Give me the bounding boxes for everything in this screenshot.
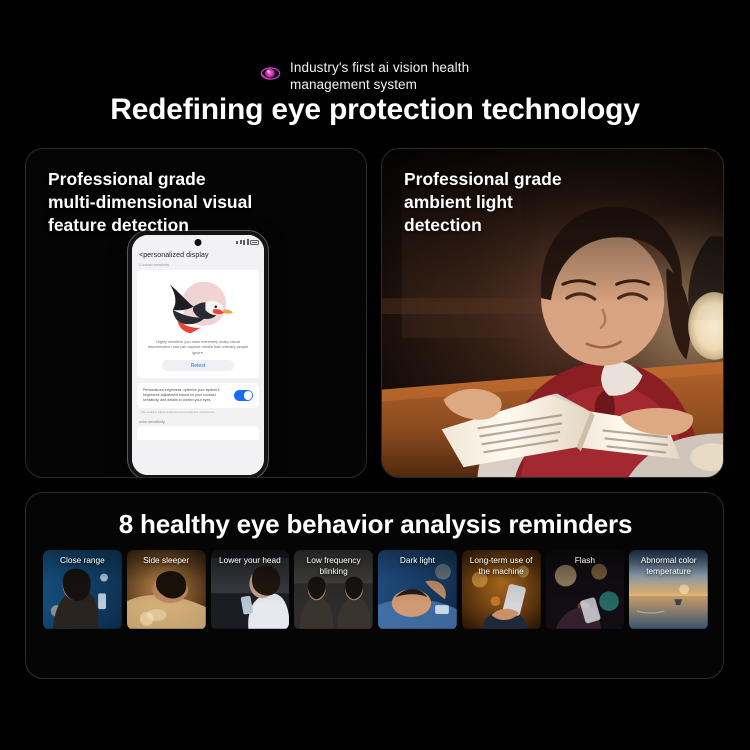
contrast-sensitivity-label: Contrast sensitivity [132, 263, 264, 270]
thumb-low-frequency-blinking[interactable]: Low frequency blinking [294, 550, 373, 630]
personalized-brightness-toggle[interactable] [234, 390, 253, 401]
hero-result-panel: Highly sensitive you have extremely shar… [137, 270, 259, 378]
thumb-label: Abnormal color temperature [629, 555, 708, 576]
thumb-label: Long-term use of the machine [462, 555, 541, 576]
hero-image-wrap [143, 275, 253, 339]
phone-mockup: <personalized display Contrast sensitivi… [128, 231, 268, 478]
card-ambient-light: Professional grade ambient light detecti… [381, 148, 724, 478]
signal-bar-icon [243, 240, 245, 245]
card-right-title: Professional grade ambient light detecti… [404, 168, 562, 237]
thumb-label: Side sleeper [127, 555, 206, 566]
eagle-illustration-icon [161, 277, 235, 335]
eye-icon [260, 63, 281, 84]
eyebrow-text: Industry's first ai vision health manage… [290, 60, 490, 93]
status-icons [236, 239, 259, 245]
card-behavior-reminders: 8 healthy eye behavior analysis reminder… [25, 492, 724, 679]
signal-bar-icon [247, 239, 249, 245]
card-feature-detection: Professional grade multi-dimensional vis… [25, 148, 367, 478]
thumb-lower-your-head[interactable]: Lower your head [211, 550, 290, 630]
personalized-brightness-label: Personalized brightness: optimize your s… [143, 388, 229, 403]
thumb-label: Close range [43, 555, 122, 566]
camera-punch-hole-icon [195, 239, 202, 246]
bottom-card-title: 8 healthy eye behavior analysis reminder… [26, 509, 724, 540]
retest-button[interactable]: Retest [162, 360, 234, 371]
battery-icon [250, 240, 259, 245]
phone-bottom-panel [137, 426, 259, 440]
thumb-abnormal-color-temperature[interactable]: Abnormal color temperature [629, 550, 708, 630]
thumb-label: Lower your head [211, 555, 290, 566]
color-sensitivity-label: color sensitivity [132, 415, 264, 426]
eyebrow-banner: Industry's first ai vision health manage… [0, 60, 750, 93]
thumb-side-sleeper[interactable]: Side sleeper [127, 550, 206, 630]
personalized-brightness-row: Personalized brightness: optimize your s… [137, 383, 259, 408]
signal-bar-icon [240, 240, 242, 244]
phone-nav-title[interactable]: <personalized display [132, 250, 264, 263]
thumb-label: Dark light [378, 555, 457, 566]
thumb-label: Low frequency blinking [294, 555, 373, 576]
brightness-fine-print: After enabled, adjusts brightness dynami… [132, 408, 264, 415]
thumb-flash[interactable]: Flash [546, 550, 625, 630]
thumb-label: Flash [546, 555, 625, 566]
thumb-dark-light[interactable]: Dark light [378, 550, 457, 630]
signal-bar-icon [236, 241, 238, 244]
promo-page: Industry's first ai vision health manage… [0, 0, 750, 750]
thumb-long-term-use[interactable]: Long-term use of the machine [462, 550, 541, 630]
thumbnail-row: Close range Side sleeper [43, 550, 708, 630]
phone-status-bar [132, 235, 264, 250]
phone-screen: <personalized display Contrast sensitivi… [132, 235, 264, 475]
page-headline: Redefining eye protection technology [0, 93, 750, 127]
hero-description: Highly sensitive you have extremely shar… [143, 339, 253, 355]
thumb-close-range[interactable]: Close range [43, 550, 122, 630]
card-left-title: Professional grade multi-dimensional vis… [48, 168, 252, 237]
